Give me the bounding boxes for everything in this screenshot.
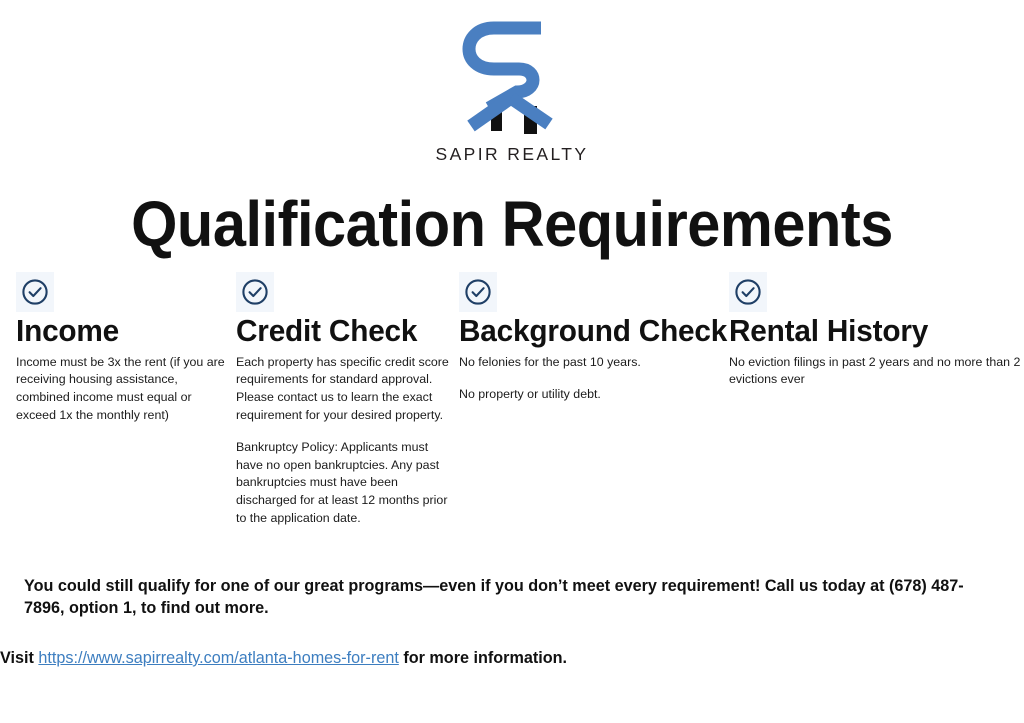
check-circle-icon [16,272,54,312]
check-circle-icon [729,272,767,312]
sapir-realty-sr-monogram-icon [449,18,575,140]
visit-suffix: for more information. [399,649,567,667]
column-paragraph-debt: No property or utility debt. [459,386,726,404]
column-heading: Background Check [459,314,715,349]
page-title: Qualification Requirements [36,191,988,258]
requirement-column-income: Income Income must be 3x the rent (if yo… [0,272,228,424]
requirement-column-credit-check: Credit Check Each property has specific … [228,272,454,527]
visit-website-line: Visit https://www.sapirrealty.com/atlant… [0,648,1010,669]
requirements-columns: Income Income must be 3x the rent (if yo… [0,272,1024,527]
call-to-action-text: You could still qualify for one of our g… [24,575,984,619]
requirement-column-background-check: Background Check No felonies for the pas… [454,272,726,404]
brand-wordmark: SAPIR REALTY [436,144,589,165]
requirement-column-rental-history: Rental History No eviction filings in pa… [726,272,1024,389]
column-heading: Rental History [729,314,1012,349]
check-circle-icon [459,272,497,312]
column-paragraph-bankruptcy: Bankruptcy Policy: Applicants must have … [236,439,454,527]
column-paragraph: Each property has specific credit score … [236,354,454,424]
column-paragraph: Income must be 3x the rent (if you are r… [16,354,228,424]
column-paragraph: No eviction filings in past 2 years and … [729,354,1024,389]
brand-logo-block: SAPIR REALTY [0,0,1024,165]
visit-prefix: Visit [0,649,38,667]
column-heading: Income [16,314,220,349]
column-heading: Credit Check [236,314,445,349]
check-circle-icon [236,272,274,312]
column-paragraph: No felonies for the past 10 years. [459,354,726,372]
website-link[interactable]: https://www.sapirrealty.com/atlanta-home… [38,649,398,667]
